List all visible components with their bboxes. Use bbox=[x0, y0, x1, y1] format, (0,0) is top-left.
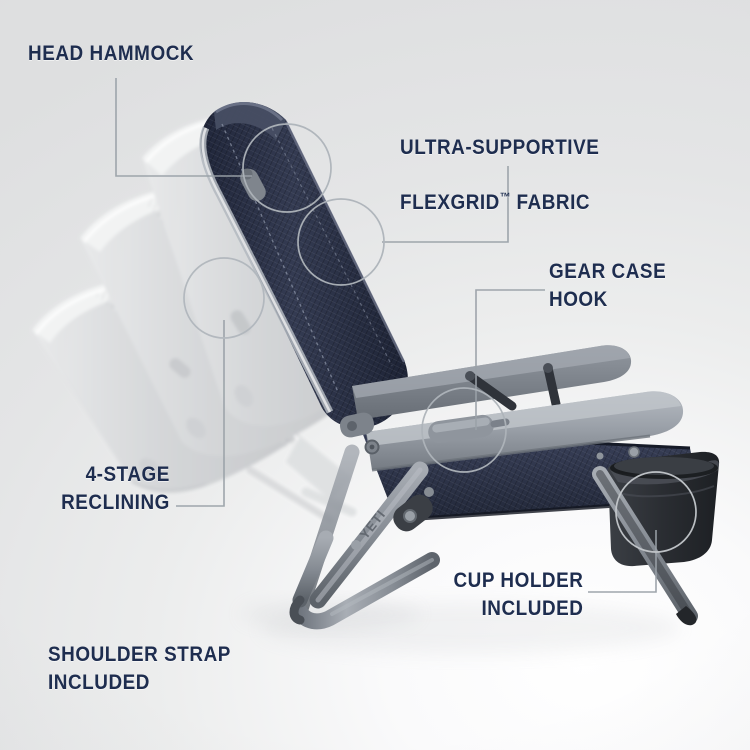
callout-label-head-hammock: HEAD HAMMOCK bbox=[28, 40, 194, 68]
callout-label-flexgrid-fabric: ULTRA-SUPPORTIVE FLEXGRID™ FABRIC bbox=[400, 106, 599, 217]
flexgrid-line-2-pre: FLEXGRID bbox=[400, 191, 500, 214]
product-infographic: YETI bbox=[0, 0, 750, 750]
flexgrid-line-2-post: FABRIC bbox=[511, 191, 590, 214]
callout-label-cup-holder: CUP HOLDER INCLUDED bbox=[453, 567, 583, 622]
trademark-symbol: ™ bbox=[500, 190, 511, 204]
flexgrid-line-1: ULTRA-SUPPORTIVE bbox=[400, 136, 599, 159]
callout-label-four-stage-reclining: 4-STAGE RECLINING bbox=[61, 461, 170, 516]
callout-labels: HEAD HAMMOCK ULTRA-SUPPORTIVE FLEXGRID™ … bbox=[0, 0, 750, 750]
callout-label-shoulder-strap: SHOULDER STRAP INCLUDED bbox=[48, 641, 231, 696]
callout-label-gear-case-hook: GEAR CASE HOOK bbox=[549, 258, 666, 313]
